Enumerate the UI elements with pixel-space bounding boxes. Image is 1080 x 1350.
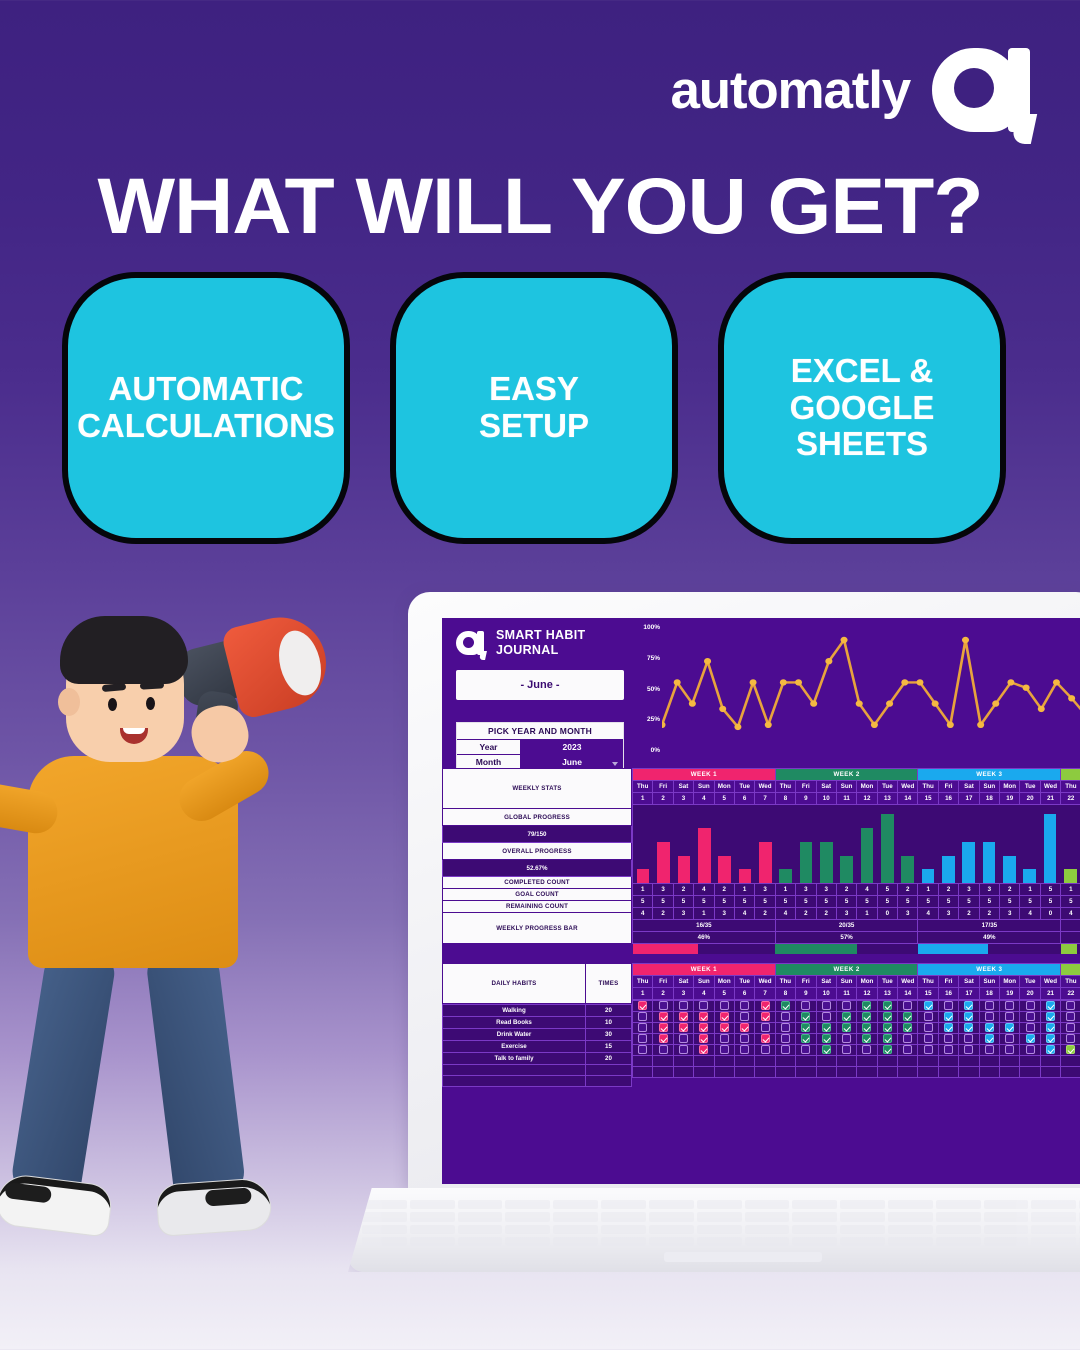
habit-checkbox[interactable] <box>1026 1001 1035 1010</box>
habit-checkbox[interactable] <box>1066 1034 1075 1043</box>
empty-check-cell[interactable] <box>673 1055 693 1066</box>
habit-checkbox[interactable] <box>761 1045 770 1054</box>
habit-checkbox[interactable] <box>740 1045 749 1054</box>
habit-check-cell[interactable] <box>1061 1022 1080 1033</box>
habit-checkbox[interactable] <box>842 1023 851 1032</box>
empty-check-cell[interactable] <box>796 1055 816 1066</box>
habit-check-cell[interactable] <box>857 1033 877 1044</box>
empty-habit-times[interactable] <box>586 1064 632 1075</box>
habit-check-cell[interactable] <box>857 1044 877 1055</box>
completed-count-cell: 2 <box>836 884 856 896</box>
habit-checkbox[interactable] <box>883 1001 892 1010</box>
habit-checkbox[interactable] <box>985 1023 994 1032</box>
habit-checkbox[interactable] <box>822 1001 831 1010</box>
empty-check-cell[interactable] <box>877 1066 897 1077</box>
habit-checkbox[interactable] <box>944 1034 953 1043</box>
habit-check-cell[interactable] <box>938 1033 958 1044</box>
habit-check-cell[interactable] <box>938 1044 958 1055</box>
habit-checkbox[interactable] <box>842 1034 851 1043</box>
habit-check-cell[interactable] <box>1020 1044 1040 1055</box>
habit-check-cell[interactable] <box>653 1000 673 1011</box>
habit-check-cell[interactable] <box>714 1000 734 1011</box>
habit-check-cell[interactable] <box>816 1033 836 1044</box>
habit-check-cell[interactable] <box>877 1033 897 1044</box>
habit-check-cell[interactable] <box>673 1033 693 1044</box>
y-tick: 0% <box>634 747 660 754</box>
empty-check-cell[interactable] <box>714 1066 734 1077</box>
empty-check-cell[interactable] <box>694 1066 714 1077</box>
habit-checkbox[interactable] <box>985 1045 994 1054</box>
habit-check-cell[interactable] <box>816 1044 836 1055</box>
habit-checkbox[interactable] <box>985 1001 994 1010</box>
month-dropdown[interactable]: June <box>521 755 623 769</box>
habit-check-cell[interactable] <box>1040 1000 1060 1011</box>
feature-card-automatic-calculations[interactable]: AUTOMATIC CALCULATIONS <box>62 272 350 544</box>
habit-checkbox[interactable] <box>699 1001 708 1010</box>
habit-check-cell[interactable] <box>755 1044 775 1055</box>
habit-checkbox[interactable] <box>720 1023 729 1032</box>
habit-checkbox[interactable] <box>883 1034 892 1043</box>
habit-check-cell[interactable] <box>836 1033 856 1044</box>
habit-check-cell[interactable] <box>877 1000 897 1011</box>
habit-checkbox[interactable] <box>964 1045 973 1054</box>
habit-checkbox[interactable] <box>679 1023 688 1032</box>
habit-check-cell[interactable] <box>653 1022 673 1033</box>
habit-checkbox[interactable] <box>883 1012 892 1021</box>
habit-checkbox[interactable] <box>801 1012 810 1021</box>
habit-checkbox[interactable] <box>761 1001 770 1010</box>
key <box>1031 1237 1076 1246</box>
empty-check-cell[interactable] <box>857 1055 877 1066</box>
habit-checkbox[interactable] <box>964 1034 973 1043</box>
habit-check-cell[interactable] <box>673 1000 693 1011</box>
empty-check-cell[interactable] <box>714 1055 734 1066</box>
empty-check-cell[interactable] <box>918 1055 938 1066</box>
habit-check-cell[interactable] <box>918 1044 938 1055</box>
habit-checkbox[interactable] <box>924 1012 933 1021</box>
habit-check-cell[interactable] <box>714 1044 734 1055</box>
habit-checkbox[interactable] <box>883 1023 892 1032</box>
habit-check-cell[interactable] <box>734 1000 754 1011</box>
character-ear <box>58 688 80 716</box>
completed-count-cell: 3 <box>755 884 775 896</box>
day-name: Fri <box>653 975 673 987</box>
habit-checkbox[interactable] <box>781 1001 790 1010</box>
year-input[interactable]: 2023 <box>521 740 623 754</box>
empty-check-cell[interactable] <box>755 1066 775 1077</box>
habit-checkbox[interactable] <box>720 1034 729 1043</box>
habit-checkbox[interactable] <box>1066 1045 1075 1054</box>
habit-check-cell[interactable] <box>714 1033 734 1044</box>
habit-checkbox[interactable] <box>659 1034 668 1043</box>
habit-checkbox[interactable] <box>924 1023 933 1032</box>
empty-check-cell[interactable] <box>1040 1066 1060 1077</box>
habit-checkbox[interactable] <box>924 1045 933 1054</box>
habit-times: 20 <box>586 1004 632 1016</box>
habit-check-cell[interactable] <box>734 1022 754 1033</box>
habit-checkbox[interactable] <box>1005 1023 1014 1032</box>
habit-checkbox[interactable] <box>699 1034 708 1043</box>
empty-check-cell[interactable] <box>1020 1066 1040 1077</box>
habit-checkbox[interactable] <box>638 1045 647 1054</box>
habit-checkbox[interactable] <box>1046 1001 1055 1010</box>
habit-check-cell[interactable] <box>918 1000 938 1011</box>
habit-check-cell[interactable] <box>633 1000 653 1011</box>
empty-check-cell[interactable] <box>836 1066 856 1077</box>
habit-check-cell[interactable] <box>938 1011 958 1022</box>
empty-check-cell[interactable] <box>898 1066 918 1077</box>
habit-checkbox[interactable] <box>862 1012 871 1021</box>
empty-check-cell[interactable] <box>1061 1055 1080 1066</box>
empty-check-cell[interactable] <box>1040 1055 1060 1066</box>
habit-checkbox[interactable] <box>862 1023 871 1032</box>
habit-check-cell[interactable] <box>633 1011 653 1022</box>
habit-check-cell[interactable] <box>918 1033 938 1044</box>
habit-checkbox[interactable] <box>679 1001 688 1010</box>
habit-check-cell[interactable] <box>918 1011 938 1022</box>
habit-check-cell[interactable] <box>633 1044 653 1055</box>
habit-check-cell[interactable] <box>633 1022 653 1033</box>
brand-logo: automatly <box>670 42 1036 138</box>
habit-checkbox[interactable] <box>985 1012 994 1021</box>
line-chart-plot <box>662 626 1080 754</box>
habit-check-cell[interactable] <box>796 1033 816 1044</box>
habit-checkbox[interactable] <box>883 1045 892 1054</box>
habit-check-cell[interactable] <box>775 1022 795 1033</box>
habit-check-row <box>633 1000 1080 1011</box>
habit-checkbox[interactable] <box>944 1023 953 1032</box>
empty-check-cell[interactable] <box>898 1055 918 1066</box>
empty-check-cell[interactable] <box>653 1055 673 1066</box>
habit-check-cell[interactable] <box>979 1044 999 1055</box>
habit-check-cell[interactable] <box>714 1022 734 1033</box>
empty-check-cell[interactable] <box>1020 1055 1040 1066</box>
habit-check-cell[interactable] <box>836 1011 856 1022</box>
habit-check-cell[interactable] <box>1040 1033 1060 1044</box>
empty-habit-name[interactable] <box>443 1064 586 1075</box>
habit-check-cell[interactable] <box>877 1011 897 1022</box>
habit-checkbox[interactable] <box>679 1045 688 1054</box>
habit-check-cell[interactable] <box>938 1022 958 1033</box>
habit-check-cell[interactable] <box>1061 1011 1080 1022</box>
habit-check-cell[interactable] <box>796 1044 816 1055</box>
habit-checkbox[interactable] <box>699 1012 708 1021</box>
empty-check-cell[interactable] <box>633 1066 653 1077</box>
habit-journal-spreadsheet: SMART HABIT JOURNAL - June - PICK YEAR A… <box>442 618 1080 1184</box>
habit-check-cell[interactable] <box>755 1011 775 1022</box>
habit-checkbox[interactable] <box>720 1012 729 1021</box>
empty-check-cell[interactable] <box>694 1055 714 1066</box>
habit-checkbox[interactable] <box>699 1045 708 1054</box>
habit-checkbox[interactable] <box>1005 1012 1014 1021</box>
habit-check-cell[interactable] <box>857 1022 877 1033</box>
habit-checkbox[interactable] <box>659 1045 668 1054</box>
empty-check-cell[interactable] <box>836 1055 856 1066</box>
empty-habit-times[interactable] <box>586 1075 632 1086</box>
habit-checkbox[interactable] <box>781 1045 790 1054</box>
feature-card-excel-google-sheets[interactable]: EXCEL & GOOGLE SHEETS <box>718 272 1006 544</box>
habit-checkbox[interactable] <box>1046 1012 1055 1021</box>
bar <box>983 842 996 883</box>
habit-checkbox[interactable] <box>822 1034 831 1043</box>
habit-check-cell[interactable] <box>959 1033 979 1044</box>
empty-check-cell[interactable] <box>959 1066 979 1077</box>
habit-checkbox[interactable] <box>944 1012 953 1021</box>
habit-check-cell[interactable] <box>734 1044 754 1055</box>
habit-checkbox[interactable] <box>903 1023 912 1032</box>
feature-card-easy-setup[interactable]: EASY SETUP <box>390 272 678 544</box>
empty-check-cell[interactable] <box>938 1055 958 1066</box>
habit-checkbox[interactable] <box>761 1012 770 1021</box>
habit-checkbox[interactable] <box>964 1012 973 1021</box>
habit-check-cell[interactable] <box>653 1033 673 1044</box>
habit-checkbox[interactable] <box>862 1001 871 1010</box>
empty-check-cell[interactable] <box>1000 1066 1020 1077</box>
completed-count-cell: 2 <box>1000 884 1020 896</box>
habit-checkbox[interactable] <box>964 1001 973 1010</box>
empty-check-cell[interactable] <box>653 1066 673 1077</box>
habit-check-cell[interactable] <box>1020 1022 1040 1033</box>
empty-check-cell[interactable] <box>857 1066 877 1077</box>
habit-check-cell[interactable] <box>898 1000 918 1011</box>
empty-check-cell[interactable] <box>734 1055 754 1066</box>
habit-checkbox[interactable] <box>679 1012 688 1021</box>
empty-check-cell[interactable] <box>816 1066 836 1077</box>
day-number: 12 <box>857 987 877 999</box>
empty-habit-name[interactable] <box>443 1075 586 1086</box>
habit-checkbox[interactable] <box>924 1034 933 1043</box>
habit-check-cell[interactable] <box>755 1022 775 1033</box>
empty-check-cell[interactable] <box>775 1055 795 1066</box>
habit-checkbox[interactable] <box>801 1045 810 1054</box>
habit-checkbox[interactable] <box>1046 1045 1055 1054</box>
empty-check-cell[interactable] <box>938 1066 958 1077</box>
habit-check-cell[interactable] <box>694 1044 714 1055</box>
habit-checkbox[interactable] <box>740 1034 749 1043</box>
habit-check-cell[interactable] <box>959 1000 979 1011</box>
habit-check-cell[interactable] <box>816 1000 836 1011</box>
habit-checkbox[interactable] <box>1026 1034 1035 1043</box>
habit-checkbox[interactable] <box>842 1012 851 1021</box>
habit-check-cell[interactable] <box>755 1033 775 1044</box>
habit-checkbox[interactable] <box>740 1012 749 1021</box>
habit-checkbox[interactable] <box>1066 1012 1075 1021</box>
habit-checkbox[interactable] <box>801 1034 810 1043</box>
habit-check-cell[interactable] <box>1040 1044 1060 1055</box>
empty-check-cell[interactable] <box>633 1055 653 1066</box>
habit-check-cell[interactable] <box>959 1044 979 1055</box>
habit-check-cell[interactable] <box>734 1011 754 1022</box>
empty-check-cell[interactable] <box>673 1066 693 1077</box>
habit-check-cell[interactable] <box>796 1000 816 1011</box>
habit-checkbox[interactable] <box>985 1034 994 1043</box>
habit-checkbox[interactable] <box>903 1034 912 1043</box>
habit-check-cell[interactable] <box>694 1022 714 1033</box>
habit-check-cell[interactable] <box>673 1044 693 1055</box>
key <box>745 1200 790 1209</box>
empty-check-cell[interactable] <box>775 1066 795 1077</box>
habit-checkbox[interactable] <box>1026 1012 1035 1021</box>
habit-check-cell[interactable] <box>755 1000 775 1011</box>
habit-checkbox[interactable] <box>1005 1034 1014 1043</box>
bar-slot <box>857 805 877 883</box>
habit-checkbox[interactable] <box>1005 1045 1014 1054</box>
habit-checkbox[interactable] <box>903 1045 912 1054</box>
habit-check-cell[interactable] <box>694 1000 714 1011</box>
habit-check-cell[interactable] <box>714 1011 734 1022</box>
weekly-percent <box>1061 932 1080 944</box>
habit-checkbox[interactable] <box>842 1045 851 1054</box>
habit-check-cell[interactable] <box>1000 1033 1020 1044</box>
habit-check-cell[interactable] <box>633 1033 653 1044</box>
habit-checkbox[interactable] <box>638 1001 647 1010</box>
empty-check-cell[interactable] <box>796 1066 816 1077</box>
habit-checkbox[interactable] <box>903 1001 912 1010</box>
habit-checkbox[interactable] <box>740 1023 749 1032</box>
global-progress-label: GLOBAL PROGRESS <box>443 809 632 826</box>
habit-checkbox[interactable] <box>1026 1045 1035 1054</box>
habit-checkbox[interactable] <box>781 1034 790 1043</box>
habit-check-cell[interactable] <box>877 1022 897 1033</box>
habit-checkbox[interactable] <box>862 1034 871 1043</box>
habit-check-cell[interactable] <box>898 1022 918 1033</box>
habit-checkbox[interactable] <box>964 1023 973 1032</box>
habit-checkbox[interactable] <box>842 1001 851 1010</box>
habit-check-cell[interactable] <box>877 1044 897 1055</box>
habit-check-cell[interactable] <box>775 1011 795 1022</box>
habit-check-cell[interactable] <box>1020 1000 1040 1011</box>
empty-check-cell[interactable] <box>816 1055 836 1066</box>
habit-checkbox[interactable] <box>801 1023 810 1032</box>
habit-check-cell[interactable] <box>898 1033 918 1044</box>
remaining-count-cell: 3 <box>673 908 693 920</box>
habit-checkbox[interactable] <box>1046 1034 1055 1043</box>
empty-check-cell[interactable] <box>1000 1055 1020 1066</box>
habit-check-cell[interactable] <box>1000 1044 1020 1055</box>
habit-checkbox[interactable] <box>638 1023 647 1032</box>
habit-check-cell[interactable] <box>979 1000 999 1011</box>
habit-check-cell[interactable] <box>898 1044 918 1055</box>
day-number: 19 <box>1000 987 1020 999</box>
habit-checkbox[interactable] <box>822 1012 831 1021</box>
habit-check-cell[interactable] <box>1020 1011 1040 1022</box>
habit-checkbox[interactable] <box>862 1045 871 1054</box>
habit-checkbox[interactable] <box>699 1023 708 1032</box>
habit-checkbox[interactable] <box>761 1023 770 1032</box>
habit-check-cell[interactable] <box>775 1000 795 1011</box>
goal-count-cell: 5 <box>796 896 816 908</box>
empty-check-cell[interactable] <box>734 1066 754 1077</box>
empty-check-cell[interactable] <box>1061 1066 1080 1077</box>
empty-check-cell[interactable] <box>877 1055 897 1066</box>
habit-check-cell[interactable] <box>796 1011 816 1022</box>
remaining-count-cell: 2 <box>755 908 775 920</box>
habit-checkbox[interactable] <box>781 1023 790 1032</box>
goal-count-cell: 5 <box>1061 896 1080 908</box>
habit-check-cell[interactable] <box>673 1022 693 1033</box>
habit-checkbox[interactable] <box>1046 1023 1055 1032</box>
habit-checkbox[interactable] <box>801 1001 810 1010</box>
habit-checkbox[interactable] <box>1005 1001 1014 1010</box>
habit-checkbox[interactable] <box>659 1023 668 1032</box>
habit-check-cell[interactable] <box>775 1044 795 1055</box>
habit-check-cell[interactable] <box>959 1011 979 1022</box>
habit-check-cell[interactable] <box>857 1011 877 1022</box>
habit-checkbox[interactable] <box>659 1012 668 1021</box>
empty-check-cell[interactable] <box>979 1066 999 1077</box>
habit-checkbox[interactable] <box>740 1001 749 1010</box>
habit-check-cell[interactable] <box>938 1000 958 1011</box>
habit-check-cell[interactable] <box>796 1022 816 1033</box>
habit-check-cell[interactable] <box>775 1033 795 1044</box>
habit-checkbox[interactable] <box>638 1012 647 1021</box>
habit-checkbox[interactable] <box>903 1012 912 1021</box>
habit-checkbox[interactable] <box>1026 1023 1035 1032</box>
habit-check-cell[interactable] <box>979 1022 999 1033</box>
habit-check-cell[interactable] <box>816 1022 836 1033</box>
habit-check-cell[interactable] <box>694 1011 714 1022</box>
habit-check-cell[interactable] <box>1000 1022 1020 1033</box>
habit-check-cell[interactable] <box>979 1033 999 1044</box>
habit-check-cell[interactable] <box>653 1044 673 1055</box>
habit-checkbox[interactable] <box>822 1045 831 1054</box>
key <box>649 1212 694 1221</box>
habit-check-cell[interactable] <box>1040 1011 1060 1022</box>
empty-check-cell[interactable] <box>755 1055 775 1066</box>
habit-check-cell[interactable] <box>694 1033 714 1044</box>
habit-check-cell[interactable] <box>918 1022 938 1033</box>
habit-checkbox[interactable] <box>659 1001 668 1010</box>
habit-check-cell[interactable] <box>1040 1022 1060 1033</box>
habit-check-cell[interactable] <box>1061 1033 1080 1044</box>
habit-checkbox[interactable] <box>944 1001 953 1010</box>
habit-check-cell[interactable] <box>836 1044 856 1055</box>
habit-check-cell[interactable] <box>673 1011 693 1022</box>
habit-checkbox[interactable] <box>944 1045 953 1054</box>
habit-checkbox[interactable] <box>1066 1001 1075 1010</box>
habit-check-cell[interactable] <box>1061 1000 1080 1011</box>
habit-checkbox[interactable] <box>679 1034 688 1043</box>
remaining-count-cell: 3 <box>714 908 734 920</box>
habit-check-cell[interactable] <box>1061 1044 1080 1055</box>
habit-check-cell[interactable] <box>1000 1000 1020 1011</box>
habit-check-cell[interactable] <box>959 1022 979 1033</box>
habit-checkbox[interactable] <box>781 1012 790 1021</box>
habit-check-cell[interactable] <box>836 1000 856 1011</box>
habit-checkbox[interactable] <box>761 1034 770 1043</box>
habit-checkbox[interactable] <box>720 1045 729 1054</box>
habit-checkbox-grid[interactable] <box>632 1000 1080 1078</box>
habit-check-cell[interactable] <box>898 1011 918 1022</box>
habit-check-cell[interactable] <box>857 1000 877 1011</box>
empty-check-cell[interactable] <box>979 1055 999 1066</box>
habit-checkbox[interactable] <box>924 1001 933 1010</box>
habit-check-cell[interactable] <box>734 1033 754 1044</box>
card-1-line2: CALCULATIONS <box>77 408 335 445</box>
habit-check-cell[interactable] <box>653 1011 673 1022</box>
habit-checkbox[interactable] <box>822 1023 831 1032</box>
habit-checkbox[interactable] <box>1066 1023 1075 1032</box>
habit-check-cell[interactable] <box>979 1011 999 1022</box>
habit-check-cell[interactable] <box>1020 1033 1040 1044</box>
habit-check-cell[interactable] <box>836 1022 856 1033</box>
habit-checkbox[interactable] <box>720 1001 729 1010</box>
empty-check-cell[interactable] <box>959 1055 979 1066</box>
habit-check-cell[interactable] <box>816 1011 836 1022</box>
habit-checkbox[interactable] <box>638 1034 647 1043</box>
empty-check-cell[interactable] <box>918 1066 938 1077</box>
habit-check-cell[interactable] <box>1000 1011 1020 1022</box>
